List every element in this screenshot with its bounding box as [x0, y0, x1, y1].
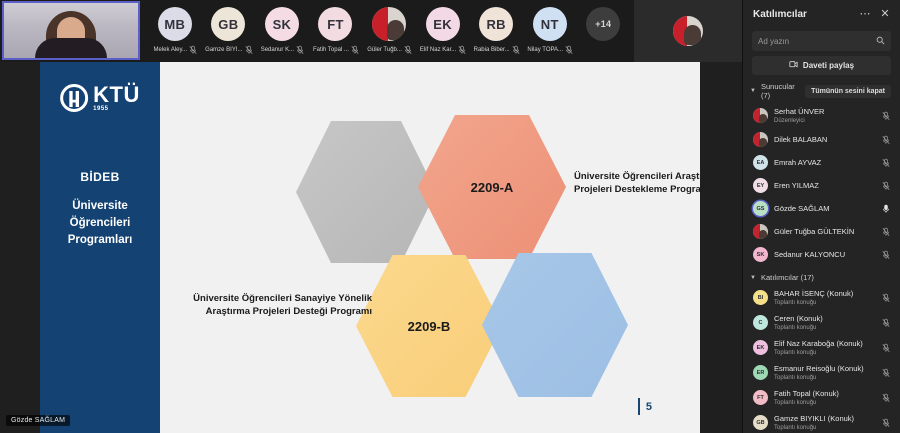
slide-sidebar: KTÜ 1955 BİDEB ÜniversiteÖğrencileriProg… [40, 62, 160, 433]
video-tile-avatar: RB [479, 7, 513, 41]
participant-row[interactable]: CCeren (Konuk)Toplantı konuğu [743, 310, 900, 335]
search-icon[interactable] [876, 32, 885, 50]
mic-muted-icon[interactable] [880, 227, 892, 237]
participant-role: Toplantı konuğu [774, 324, 874, 332]
ktu-logo: KTÜ 1955 [60, 84, 140, 112]
participant-role: Toplantı konuğu [774, 374, 874, 382]
video-tile-name: Fatih Topal ... [313, 46, 349, 54]
video-tile-name: Elif Naz Kar... [420, 46, 456, 54]
participant-avatar: SK [753, 247, 768, 262]
hexagon-2209-a: 2209-A [418, 112, 566, 262]
participant-avatar: C [753, 315, 768, 330]
participant-row[interactable]: BIBAHAR İSENÇ (Konuk)Toplantı konuğu [743, 285, 900, 310]
participant-avatar: GB [753, 415, 768, 430]
pinned-participant-tile[interactable] [634, 0, 742, 62]
participant-role: Toplantı konuğu [774, 299, 874, 307]
video-tile-4[interactable]: FTFatih Topal ... [309, 0, 363, 62]
video-tile-5[interactable]: Güler Tuğb... [362, 0, 416, 62]
participant-avatar: EY [753, 178, 768, 193]
participant-name: Güler Tuğba GÜLTEKİN [774, 227, 874, 237]
program-title-line: Öğrencileri [40, 215, 160, 232]
participant-name: Elif Naz Karaboğa (Konuk) [774, 339, 874, 349]
share-invite-label: Daveti paylaş [803, 61, 854, 70]
share-invite-button[interactable]: Daveti paylaş [752, 56, 891, 75]
participants-group-header-2[interactable]: ▼Katılımcılar (17) [743, 266, 900, 285]
participant-name: Esmanur Reisoğlu (Konuk) [774, 364, 874, 374]
participants-group-header-1[interactable]: ▼Sunucular (7)Tümünün sesini kapat [743, 75, 900, 103]
video-tile-label: Rabia Biber... [474, 45, 519, 54]
video-tile-label: Fatih Topal ... [313, 45, 358, 54]
ktu-wordmark: KTÜ 1955 [93, 84, 140, 112]
participant-info: Eren YILMAZ [774, 181, 874, 191]
video-tile-label: Sedanur K... [261, 45, 303, 54]
video-tile-overflow[interactable]: +14 [577, 0, 631, 62]
program-title-line: Üniversite [40, 198, 160, 215]
mic-muted-icon [404, 45, 411, 54]
participant-name: BAHAR İSENÇ (Konuk) [774, 289, 874, 299]
video-tile-avatar: SK [265, 7, 299, 41]
video-tile-8[interactable]: NTNilay TOPA... [523, 0, 577, 62]
slide-department: BİDEB [40, 170, 160, 184]
video-tile-name: Melek Aley... [153, 46, 187, 54]
participant-name: Ceren (Konuk) [774, 314, 874, 324]
participant-name: Dilek BALABAN [774, 135, 874, 145]
video-tile-name: Güler Tuğb... [367, 46, 402, 54]
participant-avatar: EK [753, 340, 768, 355]
video-tile-3[interactable]: SKSedanur K... [255, 0, 309, 62]
mic-muted-icon[interactable] [880, 111, 892, 121]
mic-icon[interactable] [880, 204, 892, 214]
mic-muted-icon [189, 45, 196, 54]
mic-muted-icon [458, 45, 465, 54]
participant-role: Düzenleyici [774, 117, 874, 125]
participant-info: Ceren (Konuk)Toplantı konuğu [774, 314, 874, 332]
participant-row[interactable]: FTFatih Topal (Konuk)Toplantı konuğu [743, 385, 900, 410]
participant-row[interactable]: SKSedanur KALYONCU [743, 243, 900, 266]
close-icon[interactable]: ✕ [878, 7, 892, 21]
hexagon-blue [482, 250, 628, 400]
participant-avatar [753, 108, 768, 123]
participants-group-label: Katılımcılar (17) [761, 273, 891, 282]
hexagon-gray [296, 118, 436, 266]
video-tile-name: Nilay TOPA... [527, 46, 563, 54]
hexagon-note-a: Üniversite Öğrencileri Araştırma Projele… [574, 170, 700, 196]
mic-muted-icon[interactable] [880, 181, 892, 191]
participant-avatar [753, 224, 768, 239]
participant-avatar [753, 132, 768, 147]
mic-muted-icon [512, 45, 519, 54]
participant-avatar: GS [753, 201, 768, 216]
page-number-bar [638, 398, 640, 415]
video-tile-avatar: GB [211, 7, 245, 41]
video-strip-bar: MBMelek Aley...GBGamze BIYI...SKSedanur … [0, 0, 742, 62]
participant-avatar: EA [753, 155, 768, 170]
video-tile-2[interactable]: GBGamze BIYI... [202, 0, 256, 62]
participant-info: Güler Tuğba GÜLTEKİN [774, 227, 874, 237]
participant-info: Emrah AYVAZ [774, 158, 874, 168]
chevron-down-icon[interactable]: ▼ [749, 88, 757, 94]
mic-muted-icon [351, 45, 358, 54]
participant-role: Toplantı konuğu [774, 424, 874, 432]
invite-wrap: Daveti paylaş [743, 51, 900, 75]
participant-avatar: ER [753, 365, 768, 380]
participants-panel-title: Katılımcılar [753, 9, 852, 20]
presenter-name-tag: Gözde SAĞLAM [6, 415, 70, 426]
slide-page-number: 5 [638, 398, 652, 415]
participant-info: Esmanur Reisoğlu (Konuk)Toplantı konuğu [774, 364, 874, 382]
presentation-slide[interactable]: KTÜ 1955 BİDEB ÜniversiteÖğrencileriProg… [40, 62, 700, 433]
search-input[interactable] [758, 37, 876, 46]
participant-role: Toplantı konuğu [774, 399, 874, 407]
teams-meeting-window: MBMelek Aley...GBGamze BIYI...SKSedanur … [0, 0, 900, 433]
shared-content-stage: KTÜ 1955 BİDEB ÜniversiteÖğrencileriProg… [0, 62, 742, 433]
mic-muted-icon[interactable] [880, 368, 892, 378]
participant-video-strip: MBMelek Aley...GBGamze BIYI...SKSedanur … [148, 0, 630, 62]
video-tile-1[interactable]: MBMelek Aley... [148, 0, 202, 62]
video-tile-label: Melek Aley... [153, 45, 196, 54]
video-tile-label: Gamze BIYI... [205, 45, 251, 54]
participant-info: Serhat ÜNVERDüzenleyici [774, 107, 874, 125]
participant-info: Gözde SAĞLAM [774, 204, 874, 214]
mic-muted-icon[interactable] [880, 343, 892, 353]
mic-muted-icon[interactable] [880, 135, 892, 145]
participant-name: Gamze BIYIKLI (Konuk) [774, 414, 874, 424]
participant-info: Dilek BALABAN [774, 135, 874, 145]
search-box[interactable] [752, 31, 891, 51]
participant-role: Toplantı konuğu [774, 349, 874, 357]
mic-muted-icon[interactable] [880, 393, 892, 403]
participant-name: Gözde SAĞLAM [774, 204, 874, 214]
video-tile-name: Rabia Biber... [474, 46, 510, 54]
participant-row[interactable]: Serhat ÜNVERDüzenleyici [743, 103, 900, 128]
chevron-down-icon[interactable]: ▼ [749, 275, 757, 281]
video-tile-7[interactable]: RBRabia Biber... [469, 0, 523, 62]
self-video-body [35, 38, 107, 58]
participant-info: Fatih Topal (Konuk)Toplantı konuğu [774, 389, 874, 407]
slide-program-title: ÜniversiteÖğrencileriProgramları [40, 198, 160, 249]
participants-group-label: Sunucular (7) [761, 82, 801, 100]
video-tile-avatar: NT [533, 7, 567, 41]
self-video-tile[interactable] [2, 1, 140, 60]
mic-muted-icon [565, 45, 572, 54]
participants-groups: ▼Sunucular (7)Tümünün sesini kapatSerhat… [743, 75, 900, 433]
video-tile-label: Güler Tuğb... [367, 45, 411, 54]
video-tile-avatar: FT [318, 7, 352, 41]
mic-muted-icon[interactable] [880, 318, 892, 328]
participant-info: BAHAR İSENÇ (Konuk)Toplantı konuğu [774, 289, 874, 307]
participant-info: Elif Naz Karaboğa (Konuk)Toplantı konuğu [774, 339, 874, 357]
participant-row[interactable]: GBGamze BIYIKLI (Konuk)Toplantı konuğu [743, 410, 900, 433]
hexagon-2209-b: 2209-B [356, 252, 502, 400]
ktu-name: KTÜ [93, 84, 140, 106]
participants-search-wrap [743, 28, 900, 51]
overflow-count-badge: +14 [586, 7, 620, 41]
video-tile-avatar: MB [158, 7, 192, 41]
page-number-value: 5 [646, 401, 652, 413]
participant-name: Eren YILMAZ [774, 181, 874, 191]
ellipsis-icon[interactable]: ⋯ [858, 7, 872, 21]
mic-muted-icon [245, 45, 252, 54]
participant-row[interactable]: Dilek BALABAN [743, 128, 900, 151]
program-title-line: Programları [40, 232, 160, 249]
participant-row[interactable]: EKElif Naz Karaboğa (Konuk)Toplantı konu… [743, 335, 900, 360]
participant-info: Sedanur KALYONCU [774, 250, 874, 260]
participant-row[interactable]: EAEmrah AYVAZ [743, 151, 900, 174]
mic-muted-icon[interactable] [880, 293, 892, 303]
participants-panel: Katılımcılar ⋯ ✕ Davet [742, 0, 900, 433]
mic-muted-icon [296, 45, 303, 54]
participant-row[interactable]: Güler Tuğba GÜLTEKİN [743, 220, 900, 243]
participant-name: Emrah AYVAZ [774, 158, 874, 168]
participant-info: Gamze BIYIKLI (Konuk)Toplantı konuğu [774, 414, 874, 432]
hexagon-note-b: Üniversite Öğrencileri Sanayiye Yönelik … [180, 292, 372, 318]
mic-muted-icon[interactable] [880, 158, 892, 168]
video-tile-label: Elif Naz Kar... [420, 45, 465, 54]
video-tile-label: Nilay TOPA... [527, 45, 572, 54]
participants-panel-header: Katılımcılar ⋯ ✕ [743, 0, 900, 28]
mic-muted-icon[interactable] [880, 250, 892, 260]
video-tile-name: Gamze BIYI... [205, 46, 242, 54]
participant-row[interactable]: EREsmanur Reisoğlu (Konuk)Toplantı konuğ… [743, 360, 900, 385]
video-tile-6[interactable]: EKElif Naz Kar... [416, 0, 470, 62]
participant-row[interactable]: EYEren YILMAZ [743, 174, 900, 197]
ktu-emblem-icon [60, 84, 88, 112]
participant-name: Fatih Topal (Konuk) [774, 389, 874, 399]
participant-avatar: BI [753, 290, 768, 305]
slide-body: 2209-A 2209-B Üniversite Öğrencileri Ara… [160, 62, 700, 433]
participant-avatar: FT [753, 390, 768, 405]
video-tile-name: Sedanur K... [261, 46, 294, 54]
video-tile-avatar: EK [426, 7, 460, 41]
mute-all-button[interactable]: Tümünün sesini kapat [805, 85, 891, 98]
video-tile-avatar [372, 7, 406, 41]
link-share-icon [789, 60, 798, 71]
participant-name: Sedanur KALYONCU [774, 250, 874, 260]
mic-muted-icon[interactable] [880, 418, 892, 428]
participant-row[interactable]: GSGözde SAĞLAM [743, 197, 900, 220]
pinned-participant-avatar [673, 16, 703, 46]
participant-name: Serhat ÜNVER [774, 107, 874, 117]
